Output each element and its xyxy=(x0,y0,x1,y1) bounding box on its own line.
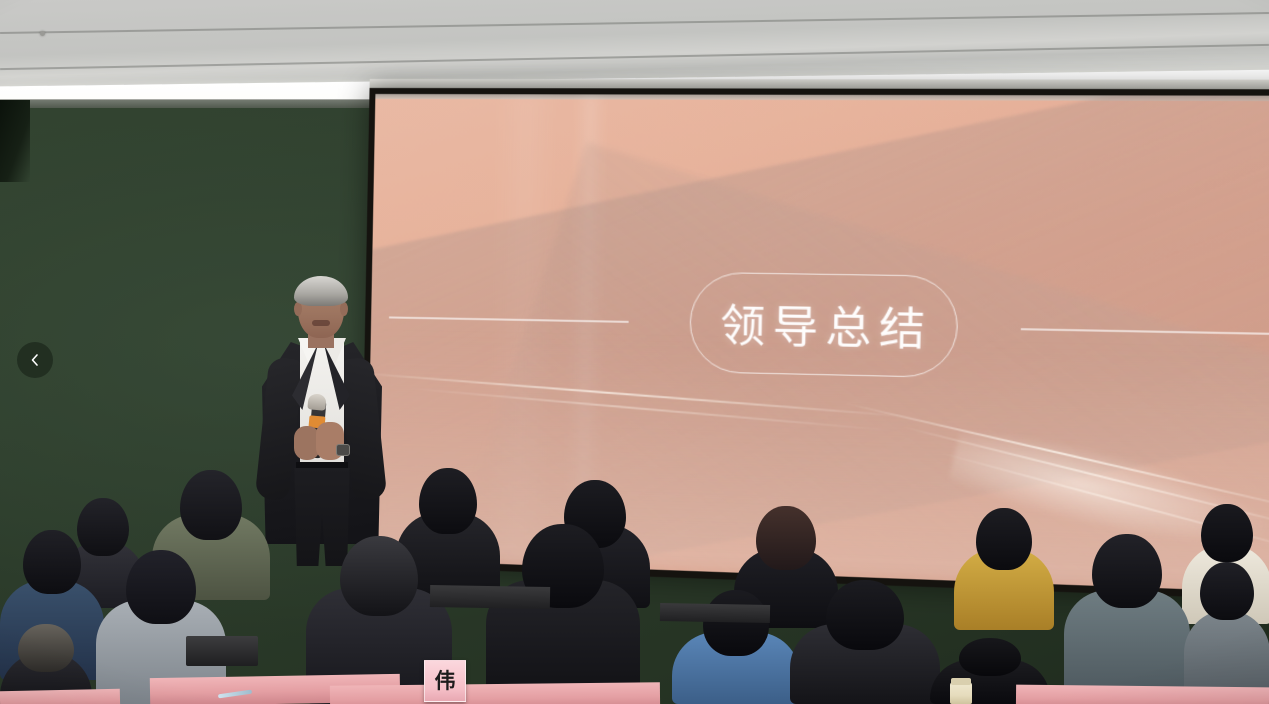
photo-viewer: 领导总结 xyxy=(0,0,1269,704)
water-bottle-cap xyxy=(951,678,971,685)
desk-surface xyxy=(660,603,770,623)
speaker-presenter xyxy=(250,276,390,566)
attendee-head xyxy=(703,590,769,656)
attendee-head xyxy=(976,508,1032,570)
slide-rule-left xyxy=(389,317,629,323)
name-placard: 伟 xyxy=(424,660,466,702)
attendee-head xyxy=(18,624,74,672)
microphone-head xyxy=(307,393,326,411)
attendee-head xyxy=(340,536,418,616)
ceiling-seam xyxy=(0,12,1269,34)
audience-member xyxy=(1184,562,1269,704)
chevron-left-icon xyxy=(27,352,43,368)
attendee-head xyxy=(959,638,1021,676)
desk-surface xyxy=(430,585,550,609)
speaker-mouth xyxy=(312,320,330,326)
water-bottle xyxy=(950,682,972,704)
attendee-head xyxy=(126,550,196,624)
audience-member xyxy=(1064,534,1190,704)
front-table xyxy=(330,682,660,704)
previous-photo-button[interactable] xyxy=(17,342,53,378)
speaker-hair xyxy=(294,276,348,306)
audience-member xyxy=(486,524,640,704)
ceiling-fixture-screw xyxy=(40,31,45,36)
front-table xyxy=(0,689,120,704)
attendee-head xyxy=(756,506,816,570)
attendee-head xyxy=(180,470,242,540)
attendee-head xyxy=(419,468,477,534)
attendee-head xyxy=(1201,504,1253,562)
laptop xyxy=(186,636,258,666)
slide-title-text: 领导总结 xyxy=(712,291,933,359)
audience-member xyxy=(790,580,940,704)
slide-rule-right xyxy=(1020,329,1269,335)
attendee-head xyxy=(1200,562,1254,620)
slide-title-pill: 领导总结 xyxy=(688,272,958,378)
speaker-wristwatch xyxy=(336,444,350,456)
attendee-head xyxy=(23,530,81,594)
attendee-head xyxy=(1092,534,1162,608)
ceiling-seam xyxy=(0,44,1269,70)
attendee-head xyxy=(826,580,904,650)
name-placard-text: 伟 xyxy=(435,671,456,692)
audience-member xyxy=(954,508,1054,630)
front-table xyxy=(1016,685,1269,704)
slide-title-block: 领导总结 xyxy=(370,261,1269,392)
wall-corner-shadow xyxy=(0,100,30,182)
